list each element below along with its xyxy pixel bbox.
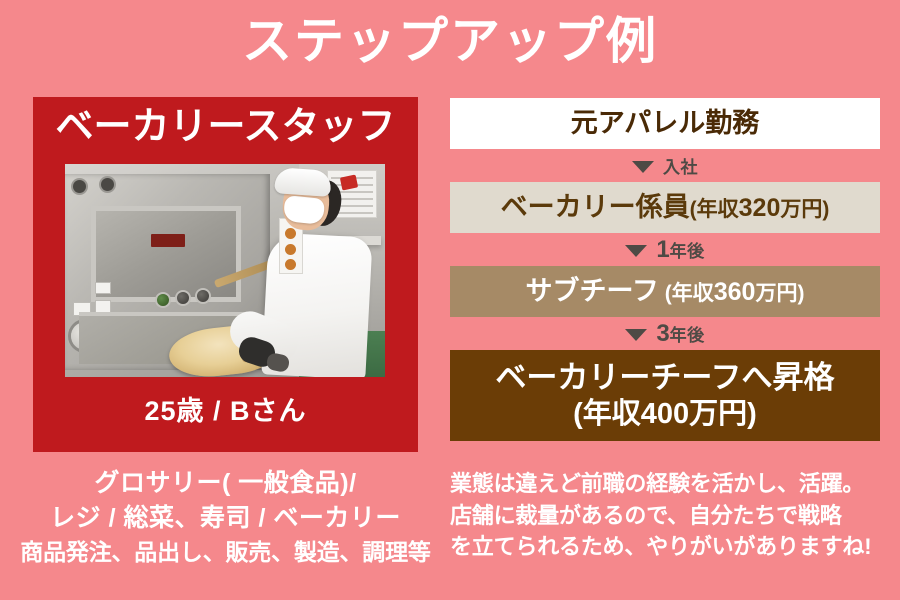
- flow-step-former-job: 元アパレル勤務: [450, 98, 880, 149]
- flow-step-bakery-staff-salary: (年収320万円): [690, 194, 830, 222]
- salary-suffix: 万円): [755, 282, 804, 305]
- salary-suffix: 万円): [780, 198, 829, 221]
- flow-connector-join-company: 入社: [450, 149, 880, 182]
- testimonial-quote-line-1: 業態は違えど前職の経験を活かし、活躍。: [450, 468, 890, 500]
- flow-step-sub-chief: サブチーフ (年収360万円): [450, 266, 880, 317]
- flow-step-bakery-chief-label: ベーカリーチーフへ昇格: [495, 361, 834, 396]
- testimonial-quote: 業態は違えど前職の経験を活かし、活躍。 店舗に裁量があるので、自分たちで戦略 を…: [450, 468, 890, 563]
- career-step-flow: 元アパレル勤務 入社 ベーカリー係員(年収320万円) 1年後 サブチーフ (年…: [450, 98, 880, 441]
- salary-prefix: (年収: [665, 282, 714, 305]
- flow-step-bakery-staff-label: ベーカリー係員: [501, 192, 690, 222]
- years-number: 1: [656, 236, 669, 263]
- profile-caption: 25歳 / Bさん: [33, 389, 418, 428]
- photo-oven-door: [91, 206, 241, 302]
- flow-step-former-job-label: 元アパレル勤務: [571, 108, 759, 138]
- testimonial-quote-line-3: を立てられるため、やりがいがありますね!: [450, 531, 890, 563]
- page-title: ステップアップ例: [0, 14, 900, 69]
- flow-step-bakery-chief: ベーカリーチーフへ昇格 (年収400万円): [450, 350, 880, 441]
- bakery-staff-photo-illustration: [65, 164, 385, 377]
- chevron-down-icon: [632, 161, 654, 173]
- flow-connector-after-3-years: 3年後: [450, 317, 880, 350]
- years-unit: 年後: [670, 326, 705, 345]
- photo-oven-brand-label: [151, 234, 185, 247]
- chevron-down-icon: [625, 245, 647, 257]
- flow-step-sub-chief-label: サブチーフ: [526, 276, 659, 306]
- left-description-line-2: レジ / 総菜、寿司 / ベーカリー: [18, 501, 433, 536]
- profile-role-label: ベーカリースタッフ: [33, 106, 418, 150]
- flow-connector-join-company-label: 入社: [663, 153, 698, 178]
- left-description: グロサリー( 一般食品)/ レジ / 総菜、寿司 / ベーカリー 商品発注、品出…: [18, 466, 433, 568]
- infographic-page: ステップアップ例 ベーカリースタッフ: [0, 0, 900, 600]
- years-unit: 年後: [670, 242, 705, 261]
- years-number: 3: [656, 320, 669, 347]
- left-description-line-1: グロサリー( 一般食品)/: [18, 466, 433, 501]
- flow-step-sub-chief-salary: (年収360万円): [659, 278, 805, 306]
- salary-amount: 360: [714, 278, 756, 306]
- profile-card: ベーカリースタッフ: [33, 97, 418, 452]
- flow-connector-after-1-year-label: 1年後: [656, 236, 704, 264]
- flow-step-bakery-staff: ベーカリー係員(年収320万円): [450, 182, 880, 233]
- chevron-down-icon: [625, 329, 647, 341]
- flow-step-bakery-chief-salary: (年収400万円): [573, 398, 757, 430]
- salary-prefix: (年収: [690, 198, 739, 221]
- flow-connector-after-1-year: 1年後: [450, 233, 880, 266]
- flow-connector-after-3-years-label: 3年後: [656, 320, 704, 348]
- salary-amount: 320: [739, 194, 781, 222]
- left-description-line-3: 商品発注、品出し、販売、製造、調理等: [18, 538, 433, 568]
- testimonial-quote-line-2: 店舗に裁量があるので、自分たちで戦略: [450, 500, 890, 532]
- profile-photo: [65, 164, 385, 377]
